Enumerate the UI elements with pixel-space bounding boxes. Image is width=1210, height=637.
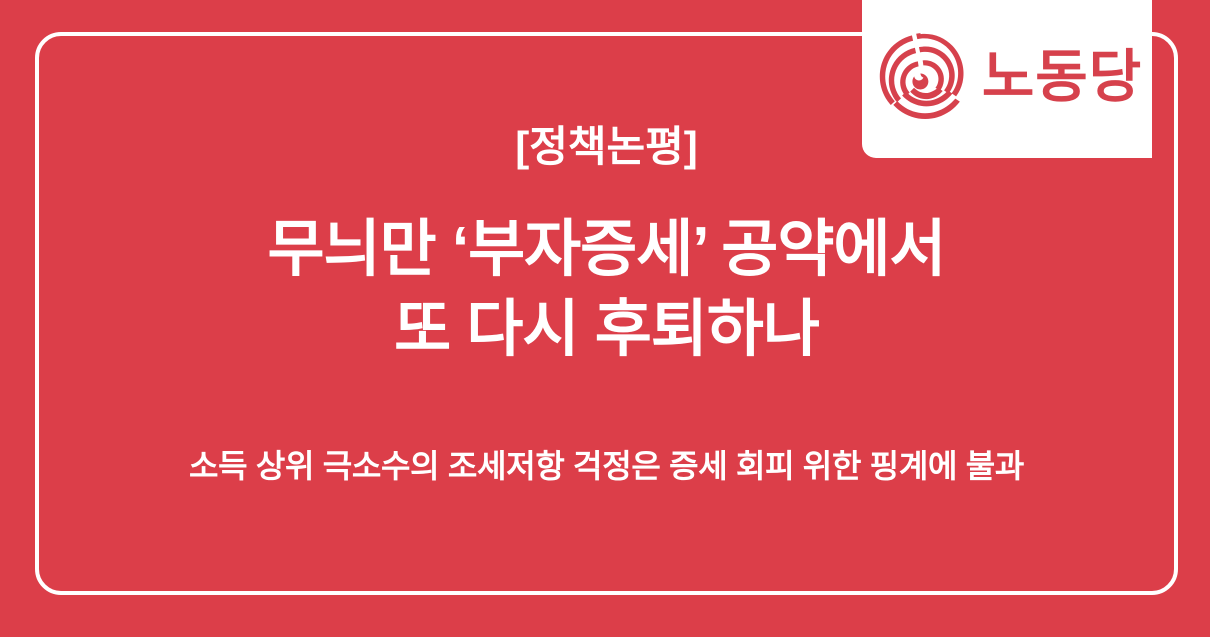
subtitle: 소득 상위 극소수의 조세저항 걱정은 증세 회피 위한 핑계에 불과 — [189, 447, 1024, 485]
kicker-label: [정책논평] — [515, 124, 698, 170]
policy-commentary-card: 노동당 [정책논평] 무늬만 ‘부자증세’ 공약에서 또 다시 후퇴하나 소득 … — [0, 0, 1210, 637]
headline: 무늬만 ‘부자증세’ 공약에서 또 다시 후퇴하나 — [268, 210, 946, 369]
card-content: [정책논평] 무늬만 ‘부자증세’ 공약에서 또 다시 후퇴하나 소득 상위 극… — [35, 32, 1178, 595]
headline-line-1: 무늬만 ‘부자증세’ 공약에서 — [268, 210, 946, 289]
headline-line-2: 또 다시 후퇴하나 — [268, 290, 946, 369]
